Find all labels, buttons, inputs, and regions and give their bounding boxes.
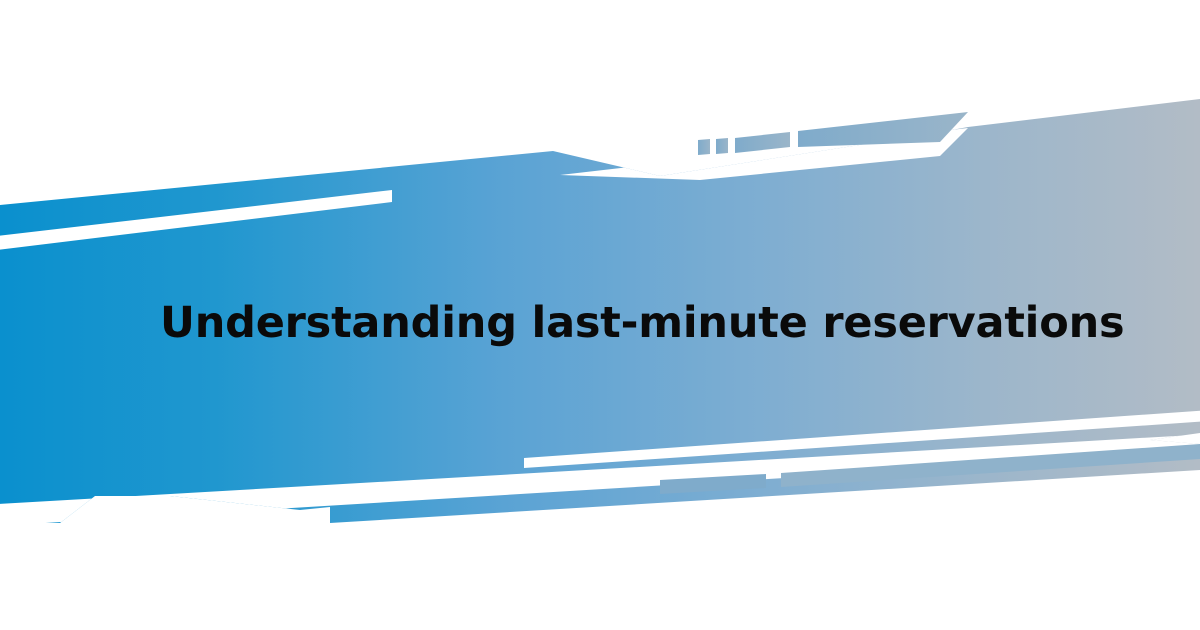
banner-graphic: Understanding last-minute reservations	[0, 0, 1200, 630]
banner-artwork	[0, 0, 1200, 630]
dash-mark-2	[716, 138, 728, 154]
dash-mark-3	[735, 132, 790, 153]
dash-mark-1	[698, 139, 710, 155]
